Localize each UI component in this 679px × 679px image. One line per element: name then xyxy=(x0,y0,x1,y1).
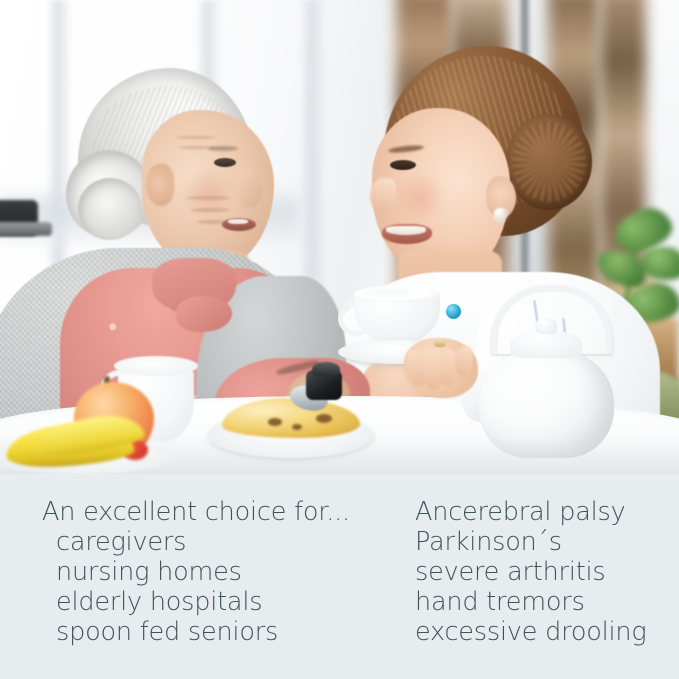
food-crumb xyxy=(292,424,302,430)
lifestyle-photo xyxy=(0,0,679,474)
list-item-parkinsons: Parkinson´s xyxy=(415,527,679,557)
wheelchair-armrest xyxy=(0,222,52,236)
marketing-text-panel: An excellent choice for... caregivers nu… xyxy=(0,474,679,679)
product-image: An excellent choice for... caregivers nu… xyxy=(0,0,679,679)
caregiver-nose xyxy=(370,178,396,212)
food-crumb xyxy=(316,414,332,423)
caregiver-eye xyxy=(390,160,416,170)
caregiver-cheek xyxy=(392,176,448,220)
jug-rim xyxy=(114,356,198,376)
teapot-body xyxy=(479,348,614,458)
spoon-handle-top xyxy=(312,362,340,376)
list-item-elderly-hospitals: elderly hospitals xyxy=(42,587,390,617)
list-item-caregivers: caregivers xyxy=(42,527,390,557)
caregiver-hair-bun-texture xyxy=(512,122,586,202)
food-crumb xyxy=(268,418,282,426)
elderly-hair-bun-inner xyxy=(78,178,142,240)
elderly-ear xyxy=(146,164,174,206)
elderly-teeth xyxy=(228,219,248,224)
pearl-earring xyxy=(494,208,507,221)
caregiver-teeth xyxy=(386,226,426,235)
left-text-column: An excellent choice for... caregivers nu… xyxy=(0,474,390,679)
window-mullion-icon xyxy=(46,0,72,300)
elderly-eyebrow xyxy=(208,146,238,151)
list-item-excessive-drooling: excessive drooling xyxy=(415,617,679,647)
uniform-button xyxy=(446,304,461,319)
elderly-eye xyxy=(214,158,236,167)
list-item-severe-arthritis: severe arthritis xyxy=(415,557,679,587)
right-text-column: Ancerebral palsy Parkinson´s severe arth… xyxy=(390,474,679,679)
list-item-cerebral-palsy: Ancerebral palsy xyxy=(415,497,679,527)
headline-excellent-choice: An excellent choice for... xyxy=(42,497,390,527)
forehead-wrinkle xyxy=(176,136,216,139)
list-item-hand-tremors: hand tremors xyxy=(415,587,679,617)
window-mullion-icon xyxy=(300,0,326,300)
list-item-nursing-homes: nursing homes xyxy=(42,557,390,587)
elderly-nose xyxy=(238,168,262,208)
teapot-knob xyxy=(536,318,557,334)
finger-ring xyxy=(434,340,446,347)
teacup-rim xyxy=(354,286,440,302)
face-wrinkle xyxy=(190,208,230,212)
teapot-lid xyxy=(510,330,582,358)
list-item-spoon-fed-seniors: spoon fed seniors xyxy=(42,617,390,647)
face-wrinkle xyxy=(186,196,230,200)
